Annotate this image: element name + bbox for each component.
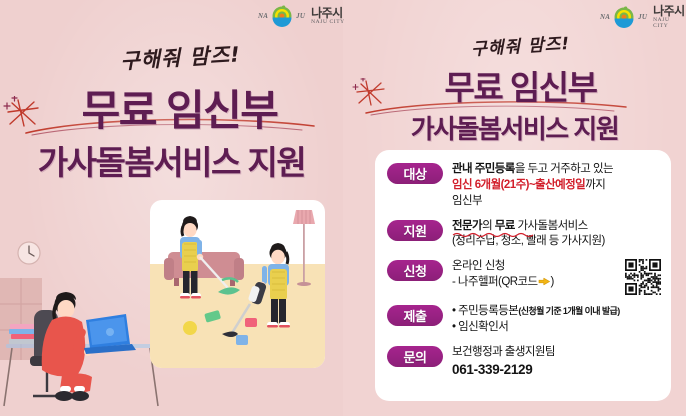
text-segment: 까지 bbox=[585, 179, 605, 191]
info-row-body: 관내 주민등록을 두고 거주하고 있는임신 6개월(21주)~출산예정일까지임신… bbox=[452, 162, 661, 210]
scattered-toys bbox=[183, 310, 257, 345]
info-badge: 제출 bbox=[387, 305, 443, 326]
naju-emblem-icon bbox=[271, 5, 293, 27]
info-row-body: 보건행정과 출생지원팀061-339-2129 bbox=[452, 345, 661, 380]
logo-name-english: NAJU CITY bbox=[311, 20, 345, 26]
text-segment: • 주민등록등본 bbox=[452, 305, 518, 317]
logo-suffix-text: JU bbox=[296, 12, 305, 20]
poster-root: 구해줘 맘즈! 무료 임신부 가사돌봄서비스 지원 NA JU 나주시 NAJU… bbox=[0, 0, 686, 416]
logo-name-english-right: NAJU CITY bbox=[653, 18, 686, 29]
text-segment: 061-339-2129 bbox=[452, 362, 532, 377]
text-segment: - 나주헬퍼(QR코드 bbox=[452, 276, 538, 288]
naju-city-logo-left: NA JU 나주시 NAJU CITY bbox=[258, 5, 345, 27]
info-line: (정리수납, 청소, 빨래 등 가사지원) bbox=[452, 234, 661, 250]
logo-wordmark-right: 나주시 NAJU CITY bbox=[653, 5, 686, 29]
text-segment: 온라인 신청 bbox=[452, 260, 505, 272]
text-segment: 임신부 bbox=[452, 195, 482, 207]
apply-text: 온라인 신청- 나주헬퍼(QR코드) bbox=[452, 259, 621, 291]
floor-lamp-icon bbox=[293, 210, 315, 286]
cleaning-scene-illustration bbox=[150, 200, 325, 368]
info-line: 보건행정과 출생지원팀 bbox=[452, 345, 661, 361]
info-row-지원: 지원 전문가의 무료 가사돌봄서비스(정리수납, 청소, 빨래 등 가사지원) bbox=[387, 219, 661, 251]
info-line: 온라인 신청 bbox=[452, 259, 621, 275]
qr-code-image[interactable] bbox=[625, 259, 661, 295]
text-segment: (신청월 기준 1개월 이내 발급) bbox=[518, 306, 619, 316]
info-badge: 문의 bbox=[387, 346, 443, 367]
info-row-body: • 주민등록등본(신청월 기준 1개월 이내 발급)• 임신확인서 bbox=[452, 304, 661, 336]
qr-suffix: ) bbox=[551, 276, 554, 288]
left-headline: 구해줘 맘즈! 무료 임신부 가사돌봄서비스 지원 bbox=[0, 42, 343, 184]
naju-city-logo-right: NA JU 나주시 NAJU CITY bbox=[600, 5, 686, 29]
info-line: - 나주헬퍼(QR코드) bbox=[452, 275, 621, 291]
logo-prefix-text-right: NA bbox=[600, 13, 610, 21]
text-segment: 가사돌봄서비스 bbox=[515, 220, 588, 232]
illustration-card bbox=[150, 200, 325, 368]
left-title-line1: 무료 임신부 bbox=[0, 77, 343, 138]
info-line: 관내 주민등록을 두고 거주하고 있는 bbox=[452, 162, 661, 178]
laptop-icon bbox=[84, 314, 136, 354]
logo-prefix-text: NA bbox=[258, 12, 268, 20]
right-title-line1: 무료 임신부 bbox=[343, 61, 686, 109]
info-row-body: 전문가의 무료 가사돌봄서비스(정리수납, 청소, 빨래 등 가사지원) bbox=[452, 219, 661, 251]
text-segment: 무료 bbox=[495, 220, 515, 232]
info-line: • 임신확인서 bbox=[452, 320, 661, 336]
info-badge: 지원 bbox=[387, 220, 443, 241]
info-row-제출: 제출 • 주민등록등본(신청월 기준 1개월 이내 발급)• 임신확인서 bbox=[387, 304, 661, 336]
logo-suffix-text-right: JU bbox=[638, 13, 647, 21]
home-office-scene bbox=[0, 200, 160, 416]
text-segment: 전문가 bbox=[452, 220, 482, 232]
info-badge: 대상 bbox=[387, 163, 443, 184]
info-line: 임신부 bbox=[452, 194, 661, 210]
squiggle-underline-icon bbox=[452, 232, 538, 237]
info-row-대상: 대상 관내 주민등록을 두고 거주하고 있는임신 6개월(21주)~출산예정일까… bbox=[387, 162, 661, 210]
info-row-body: 온라인 신청- 나주헬퍼(QR코드) bbox=[452, 259, 661, 295]
info-row-신청: 신청 온라인 신청- 나주헬퍼(QR코드) bbox=[387, 259, 661, 295]
naju-emblem-icon-right bbox=[613, 6, 635, 28]
logo-name-korean: 나주시 bbox=[311, 7, 345, 19]
info-line: 061-339-2129 bbox=[452, 361, 661, 380]
sofa bbox=[164, 252, 244, 286]
text-segment: • 임신확인서 bbox=[452, 321, 508, 333]
info-line: • 주민등록등본(신청월 기준 1개월 이내 발급) bbox=[452, 304, 661, 320]
info-row-문의: 문의 보건행정과 출생지원팀061-339-2129 bbox=[387, 345, 661, 380]
logo-wordmark: 나주시 NAJU CITY bbox=[311, 7, 345, 26]
text-segment: 의 bbox=[482, 220, 495, 232]
text-segment: (정리수납, 청소, 빨래 등 가사지원) bbox=[452, 235, 605, 247]
pointing-right-finger-icon bbox=[538, 276, 551, 287]
right-title-line2: 가사돌봄서비스 지원 bbox=[343, 109, 686, 146]
text-segment: 을 두고 거주하고 있는 bbox=[515, 163, 613, 175]
info-line: 임신 6개월(21주)~출산예정일까지 bbox=[452, 178, 661, 194]
logo-name-korean-right: 나주시 bbox=[653, 5, 686, 17]
info-badge: 신청 bbox=[387, 260, 443, 281]
text-segment: 보건행정과 출생지원팀 bbox=[452, 346, 555, 358]
right-headline: 구해줘 맘즈! 무료 임신부 가사돌봄서비스 지원 bbox=[343, 32, 686, 146]
wall-clock-icon bbox=[18, 242, 40, 264]
info-card: 대상 관내 주민등록을 두고 거주하고 있는임신 6개월(21주)~출산예정일까… bbox=[375, 150, 671, 401]
text-segment: 관내 주민등록 bbox=[452, 163, 515, 175]
text-segment: 임신 6개월(21주)~출산예정일 bbox=[452, 179, 585, 191]
left-title-line2: 가사돌봄서비스 지원 bbox=[0, 136, 343, 184]
